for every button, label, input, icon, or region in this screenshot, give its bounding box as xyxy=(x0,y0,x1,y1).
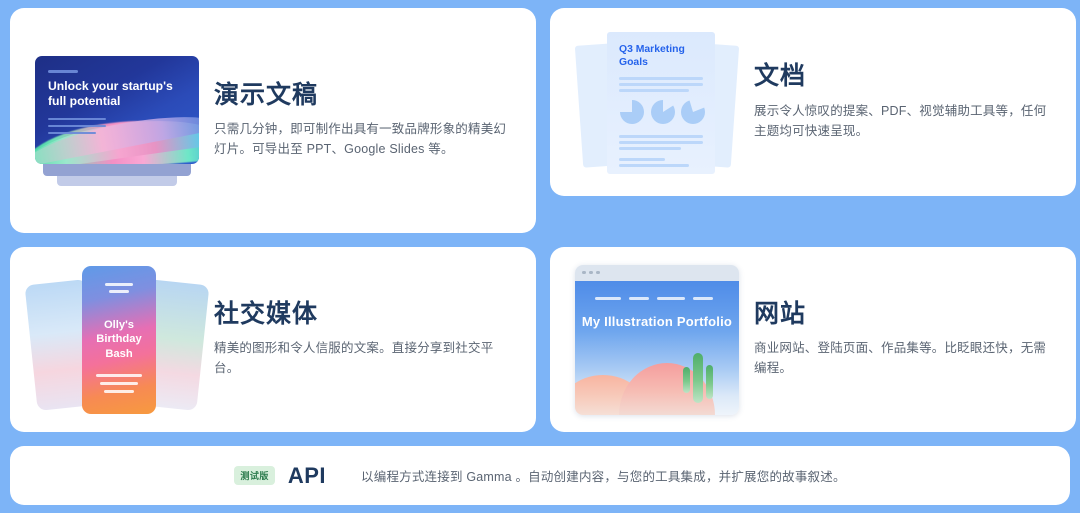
feature-text-social-media: 社交媒体 精美的图形和令人信服的文案。直接分享到社交平台。 xyxy=(210,301,520,379)
story-top-line-2 xyxy=(109,290,129,293)
story-bottom-line-2 xyxy=(100,382,138,385)
document-line-2 xyxy=(619,83,703,86)
feature-text-presentations: 演示文稿 只需几分钟，即可制作出具有一致品牌形象的精美幻灯片。可导出至 PPT、… xyxy=(210,82,520,160)
cactus-icon xyxy=(693,353,703,403)
feature-text-websites: 网站 商业网站、登陆页面、作品集等。比眨眼还快，无需编程。 xyxy=(750,301,1060,379)
feature-title: 社交媒体 xyxy=(214,301,514,329)
feature-title: 网站 xyxy=(754,301,1054,329)
story-headline: Olly's Birthday Bash xyxy=(82,318,156,362)
document-line-1 xyxy=(619,77,703,80)
site-headline: My Illustration Portfolio xyxy=(575,314,739,331)
document-line-3 xyxy=(619,89,689,92)
cactus-arm-left-icon xyxy=(683,367,690,393)
cactus-arm-right-icon xyxy=(706,365,713,399)
slide-headline: Unlock your startup's full potential xyxy=(48,79,178,110)
feature-description: 展示令人惊叹的提案、PDF、视觉辅助工具等，任何主题均可快速呈现。 xyxy=(754,101,1054,142)
api-label: API xyxy=(288,463,326,489)
document-heading: Q3 Marketing Goals xyxy=(619,43,709,69)
feature-card-social-media[interactable]: Olly's Birthday Bash 社交媒体 精美的图形和令人信服的文案。… xyxy=(10,247,536,432)
document-pie-chart-1 xyxy=(620,100,644,124)
document-pages-illustration: Q3 Marketing Goals xyxy=(564,8,750,196)
site-nav-link-1 xyxy=(595,297,621,300)
website-browser-illustration: My Illustration Portfolio xyxy=(564,247,750,432)
slide-body-line-1 xyxy=(48,118,106,121)
api-description: 以编程方式连接到 Gamma 。自动创建内容，与您的工具集成，并扩展您的故事叙述… xyxy=(361,466,846,485)
presentation-slide-illustration: Unlock your startup's full potential xyxy=(24,8,210,233)
browser-dot-icon xyxy=(596,271,600,275)
browser-dot-icon xyxy=(589,271,593,275)
browser-dot-icon xyxy=(582,271,586,275)
browser-viewport: My Illustration Portfolio xyxy=(575,281,739,415)
feature-card-websites[interactable]: My Illustration Portfolio 网站 商业网站、登陆页面、作… xyxy=(550,247,1076,432)
feature-description: 只需几分钟，即可制作出具有一致品牌形象的精美幻灯片。可导出至 PPT、Googl… xyxy=(214,119,514,160)
site-nav-link-2 xyxy=(629,297,649,300)
feature-title: 演示文稿 xyxy=(214,82,514,110)
document-line-8 xyxy=(619,164,689,167)
feature-cards-page: Unlock your startup's full potential 演示文… xyxy=(0,0,1080,513)
site-nav-link-4 xyxy=(693,297,713,300)
feature-description: 精美的图形和令人信服的文案。直接分享到社交平台。 xyxy=(214,338,514,379)
feature-card-grid: Unlock your startup's full potential 演示文… xyxy=(10,8,1070,432)
story-bottom-line-1 xyxy=(96,374,142,377)
document-pie-chart-3 xyxy=(681,100,705,124)
beta-badge: 测试版 xyxy=(234,466,275,485)
feature-description: 商业网站、登陆页面、作品集等。比眨眼还快，无需编程。 xyxy=(754,338,1054,379)
feature-title: 文档 xyxy=(754,63,1054,91)
document-line-5 xyxy=(619,141,703,144)
document-pie-chart-2 xyxy=(651,100,675,124)
story-card-front: Olly's Birthday Bash xyxy=(82,266,156,414)
browser-title-bar xyxy=(575,265,739,281)
story-top-line-1 xyxy=(105,283,133,286)
site-nav-link-3 xyxy=(657,297,685,300)
api-banner[interactable]: 测试版 API 以编程方式连接到 Gamma 。自动创建内容，与您的工具集成，并… xyxy=(10,446,1070,505)
document-page-front: Q3 Marketing Goals xyxy=(607,32,715,174)
feature-text-documents: 文档 展示令人惊叹的提案、PDF、视觉辅助工具等，任何主题均可快速呈现。 xyxy=(750,63,1060,141)
slide-thumbnail: Unlock your startup's full potential xyxy=(35,56,199,164)
slide-body-line-2 xyxy=(48,125,106,128)
story-bottom-line-3 xyxy=(104,390,134,393)
slide-body-line-3 xyxy=(48,132,96,135)
feature-card-presentations[interactable]: Unlock your startup's full potential 演示文… xyxy=(10,8,536,233)
document-line-4 xyxy=(619,135,703,138)
feature-card-documents[interactable]: Q3 Marketing Goals xyxy=(550,8,1076,196)
document-line-6 xyxy=(619,147,681,150)
slide-eyebrow-line xyxy=(48,70,78,73)
document-line-7 xyxy=(619,158,665,161)
social-story-cards-illustration: Olly's Birthday Bash xyxy=(24,247,210,432)
